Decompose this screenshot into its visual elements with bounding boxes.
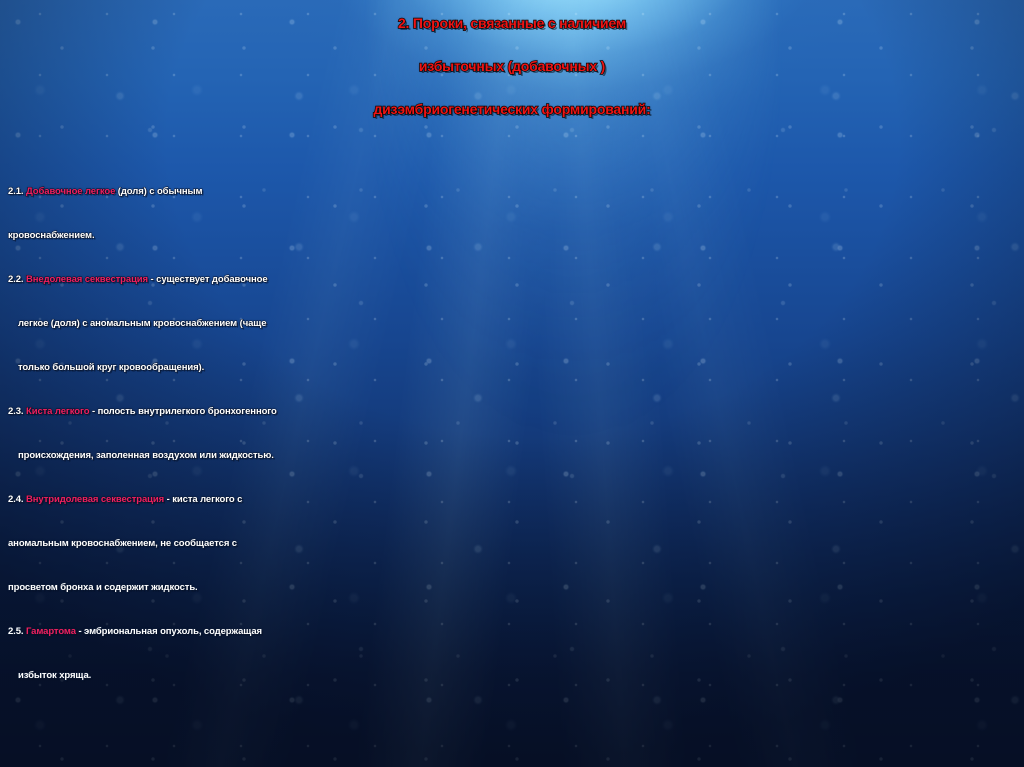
highlighted-term: Внедолевая секвестрация bbox=[26, 274, 148, 285]
body-text: - киста легкого с bbox=[164, 494, 242, 505]
body-line: избыток хряща. bbox=[0, 654, 1024, 698]
slide-content: 2. Пороки, связанные с наличиемизбыточны… bbox=[0, 0, 1024, 767]
slide-title: 2. Пороки, связанные с наличиемизбыточны… bbox=[0, 2, 1024, 131]
item-number: 2.2. bbox=[8, 274, 26, 285]
body-text: аномальным кровоснабжением, не сообщаетс… bbox=[8, 538, 237, 549]
body-line: 2.5. Гамартома - эмбриональная опухоль, … bbox=[0, 610, 1024, 654]
list-item: 2.2. Внедолевая секвестрация - существуе… bbox=[0, 258, 1024, 390]
body-text: кровоснабжением. bbox=[8, 230, 95, 241]
title-line: 2. Пороки, связанные с наличием bbox=[0, 2, 1024, 45]
body-line: кровоснабжением. bbox=[0, 214, 1024, 258]
slide-body-list: 2.1. Добавочное легкое (доля) с обычнымк… bbox=[0, 170, 1024, 698]
highlighted-term: Гамартома bbox=[26, 626, 76, 637]
body-text: - эмбриональная опухоль, содержащая bbox=[76, 626, 262, 637]
slide-canvas: 2. Пороки, связанные с наличиемизбыточны… bbox=[0, 0, 1024, 767]
body-text: - полость внутрилегкого бронхогенного bbox=[89, 406, 276, 417]
item-number: 2.1. bbox=[8, 186, 26, 197]
body-line: аномальным кровоснабжением, не сообщаетс… bbox=[0, 522, 1024, 566]
body-line: 2.3. Киста легкого - полость внутрилегко… bbox=[0, 390, 1024, 434]
item-number: 2.4. bbox=[8, 494, 26, 505]
body-text: просветом бронха и содержит жидкость. bbox=[8, 582, 198, 593]
list-item: 2.3. Киста легкого - полость внутрилегко… bbox=[0, 390, 1024, 478]
body-line: 2.1. Добавочное легкое (доля) с обычным bbox=[0, 170, 1024, 214]
list-item: 2.5. Гамартома - эмбриональная опухоль, … bbox=[0, 610, 1024, 698]
body-text: - существует добавочное bbox=[148, 274, 268, 285]
item-number: 2.3. bbox=[8, 406, 26, 417]
title-line: дизэмбриогенетических формирований: bbox=[0, 88, 1024, 131]
body-line: легкое (доля) с аномальным кровоснабжени… bbox=[0, 302, 1024, 346]
body-text: избыток хряща. bbox=[18, 670, 91, 681]
highlighted-term: Внутридолевая секвестрация bbox=[26, 494, 164, 505]
body-line: просветом бронха и содержит жидкость. bbox=[0, 566, 1024, 610]
body-text: легкое (доля) с аномальным кровоснабжени… bbox=[18, 318, 266, 329]
body-line: только большой круг кровообращения). bbox=[0, 346, 1024, 390]
body-text: (доля) с обычным bbox=[115, 186, 202, 197]
body-line: 2.4. Внутридолевая секвестрация - киста … bbox=[0, 478, 1024, 522]
body-text: только большой круг кровообращения). bbox=[18, 362, 204, 373]
body-line: 2.2. Внедолевая секвестрация - существуе… bbox=[0, 258, 1024, 302]
body-line: происхождения, заполенная воздухом или ж… bbox=[0, 434, 1024, 478]
list-item: 2.4. Внутридолевая секвестрация - киста … bbox=[0, 478, 1024, 610]
highlighted-term: Добавочное легкое bbox=[26, 186, 115, 197]
list-item: 2.1. Добавочное легкое (доля) с обычнымк… bbox=[0, 170, 1024, 258]
item-number: 2.5. bbox=[8, 626, 26, 637]
body-text: происхождения, заполенная воздухом или ж… bbox=[18, 450, 274, 461]
highlighted-term: Киста легкого bbox=[26, 406, 89, 417]
title-line: избыточных (добавочных ) bbox=[0, 45, 1024, 88]
